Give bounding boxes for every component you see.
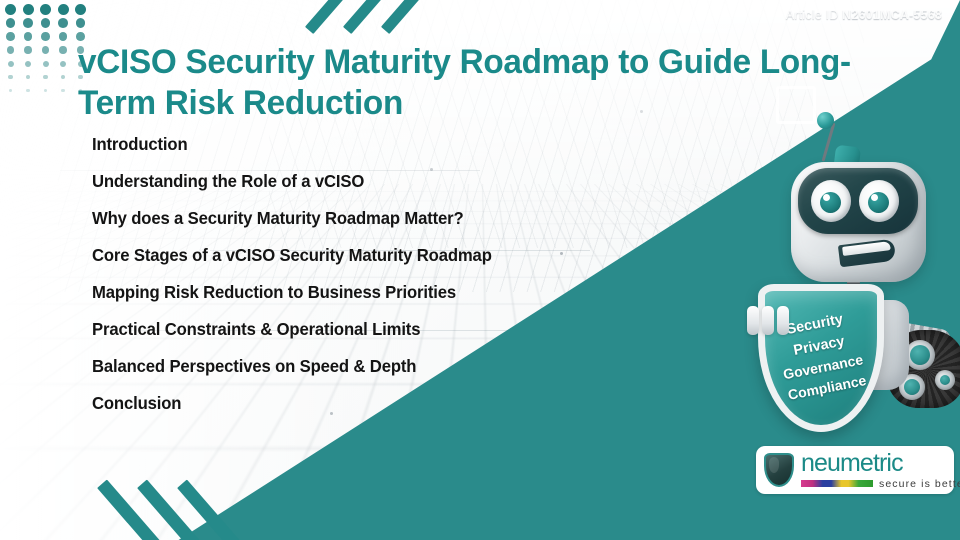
grid-dot: [59, 32, 68, 41]
robot-finger: [762, 306, 774, 335]
robot-finger: [747, 306, 759, 335]
robot-eye-glint-left: [823, 194, 830, 201]
grid-dot: [44, 89, 48, 93]
article-id: Article ID N2601MCA-5568: [786, 8, 942, 22]
grid-dot: [26, 75, 31, 80]
grid-dot: [8, 75, 13, 80]
toc-item-2[interactable]: Why does a Security Maturity Roadmap Mat…: [92, 210, 635, 227]
toc-item-6[interactable]: Balanced Perspectives on Speed & Depth: [92, 358, 635, 375]
grid-dot: [23, 18, 33, 28]
robot-eye-glint-right: [871, 194, 878, 201]
grid-dot: [40, 4, 51, 15]
toc-item-5[interactable]: Practical Constraints & Operational Limi…: [92, 321, 635, 338]
toc-item-3[interactable]: Core Stages of a vCISO Security Maturity…: [92, 247, 635, 264]
logo-shield-icon: [764, 453, 794, 487]
grid-dot: [61, 75, 66, 80]
stripe: [381, 0, 430, 34]
grid-dot: [75, 4, 86, 15]
grid-dot: [76, 18, 86, 28]
grid-dot: [23, 4, 34, 15]
grid-dot: [58, 18, 68, 28]
tread-hub: [905, 340, 935, 370]
slide-canvas: Article ID N2601MCA-5568 vCISO Security …: [0, 0, 960, 540]
antenna-ball-icon: [817, 112, 834, 129]
grid-dot: [7, 46, 14, 53]
robot-finger: [777, 306, 789, 335]
grid-dot: [6, 18, 16, 28]
toc-item-1[interactable]: Understanding the Role of a vCISO: [92, 173, 635, 190]
grid-dot: [58, 4, 69, 15]
neumetric-logo[interactable]: neumetric secure is better: [756, 446, 954, 494]
grid-dot: [59, 46, 66, 53]
logo-rainbow-bar: [801, 480, 873, 487]
robot-mascot: SecurityPrivacyGovernanceCompliance: [735, 104, 960, 434]
logo-wordmark: neumetric: [801, 451, 960, 476]
grid-dot: [9, 89, 13, 93]
table-of-contents: IntroductionUnderstanding the Role of a …: [92, 136, 652, 432]
grid-dot: [8, 61, 14, 67]
grid-dot: [43, 75, 48, 80]
grid-dot: [41, 32, 50, 41]
robot-teeth: [842, 241, 891, 256]
logo-tagline: secure is better: [879, 478, 960, 490]
diagonal-stripes-top: [318, 0, 448, 32]
logo-bottom-row: secure is better: [801, 478, 960, 490]
grid-dot: [41, 18, 51, 28]
tread-hub: [935, 370, 955, 390]
grid-dot: [24, 32, 33, 41]
toc-item-7[interactable]: Conclusion: [92, 395, 635, 412]
robot-hand: [747, 306, 791, 336]
grid-dot: [5, 4, 16, 15]
grid-dot: [60, 61, 66, 67]
grid-dot: [43, 61, 49, 67]
grid-dot: [42, 46, 49, 53]
article-id-value: N2601MCA-5568: [842, 8, 942, 22]
grid-dot: [26, 89, 30, 93]
grid-dot: [61, 89, 65, 93]
toc-item-4[interactable]: Mapping Risk Reduction to Business Prior…: [92, 284, 635, 301]
grid-dot: [24, 46, 31, 53]
logo-text-block: neumetric secure is better: [801, 451, 960, 490]
grid-dot: [6, 32, 15, 41]
grid-dot: [76, 32, 85, 41]
grid-dot: [25, 61, 31, 67]
toc-item-0[interactable]: Introduction: [92, 136, 635, 153]
diagonal-stripes-bottom: [125, 468, 265, 540]
article-id-label: Article ID: [786, 8, 839, 22]
